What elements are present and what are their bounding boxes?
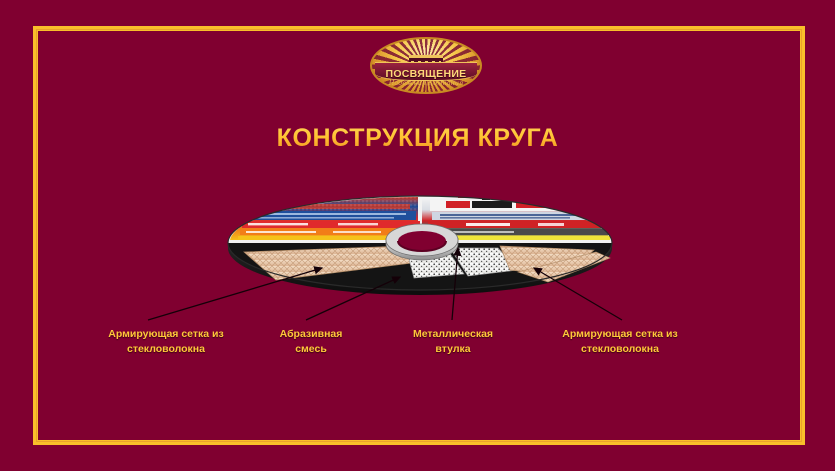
callout-line-1: Абразивная bbox=[256, 327, 366, 342]
callout-label-fiberglass-mesh-left: Армирующая сетка из стекловолокна bbox=[86, 327, 246, 357]
callout-label-abrasive-mix: Абразивная смесь bbox=[256, 327, 366, 357]
cutting-disc-cutaway bbox=[218, 188, 622, 300]
callout-label-fiberglass-mesh-right: Армирующая сетка из стекловолокна bbox=[540, 327, 700, 357]
page-title: КОНСТРУКЦИЯ КРУГА bbox=[0, 124, 835, 153]
callout-line-1: Армирующая сетка из bbox=[86, 327, 246, 342]
logo-tagline-text: Надежная Компания bbox=[372, 79, 480, 87]
callout-line-2: смесь bbox=[256, 342, 366, 357]
callout-line-1: Армирующая сетка из bbox=[540, 327, 700, 342]
metal-bushing bbox=[386, 224, 458, 260]
callout-line-1: Металлическая bbox=[388, 327, 518, 342]
disc-svg bbox=[218, 188, 622, 300]
posvyashchenie-logo: ПОСВЯЩЕНИЕ Надежная Компания bbox=[370, 37, 482, 94]
callout-label-metal-bushing: Металлическая втулка bbox=[388, 327, 518, 357]
slide-canvas: ПОСВЯЩЕНИЕ Надежная Компания КОНСТРУКЦИЯ… bbox=[0, 0, 835, 471]
callout-line-2: стекловолокна bbox=[540, 342, 700, 357]
callout-line-2: втулка bbox=[388, 342, 518, 357]
callout-line-2: стекловолокна bbox=[86, 342, 246, 357]
logo-ellipse: ПОСВЯЩЕНИЕ Надежная Компания bbox=[370, 37, 482, 94]
